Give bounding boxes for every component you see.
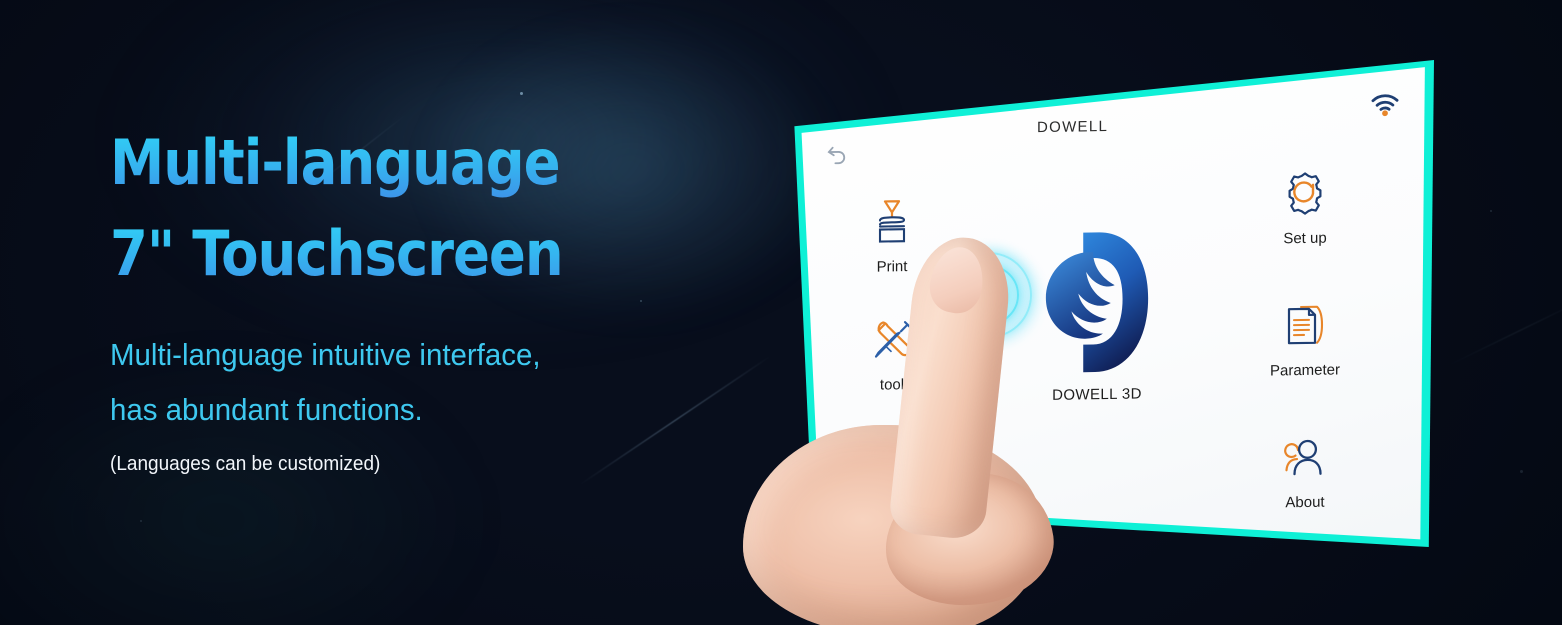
menu-label: About	[1250, 493, 1360, 512]
headline-line-1: Multi-language	[110, 118, 673, 209]
menu-item-parameter[interactable]: Parameter	[1250, 296, 1360, 380]
menu-label: Parameter	[1250, 361, 1360, 380]
back-arrow-icon[interactable]	[824, 142, 850, 168]
menu-item-setup[interactable]: Set up	[1250, 164, 1360, 248]
customization-note: (Languages can be customized)	[110, 453, 718, 476]
gear-icon	[1277, 165, 1333, 222]
banner-stage: Multi-language 7" Touchscreen Multi-lang…	[0, 0, 1562, 625]
pointing-hand	[735, 225, 1065, 625]
document-lines-icon	[1277, 297, 1333, 354]
hero-copy: Multi-language 7" Touchscreen Multi-lang…	[110, 118, 750, 476]
subheadline-line-2: has abundant functions.	[110, 382, 718, 437]
wifi-icon	[1370, 91, 1400, 117]
device-brand-title: DOWELL	[1037, 118, 1108, 136]
subheadline-line-1: Multi-language intuitive interface,	[110, 327, 718, 382]
headline-line-2: 7" Touchscreen	[110, 209, 673, 300]
menu-label: Set up	[1250, 229, 1360, 248]
users-icon	[1277, 429, 1333, 486]
menu-item-about[interactable]: About	[1250, 428, 1360, 512]
